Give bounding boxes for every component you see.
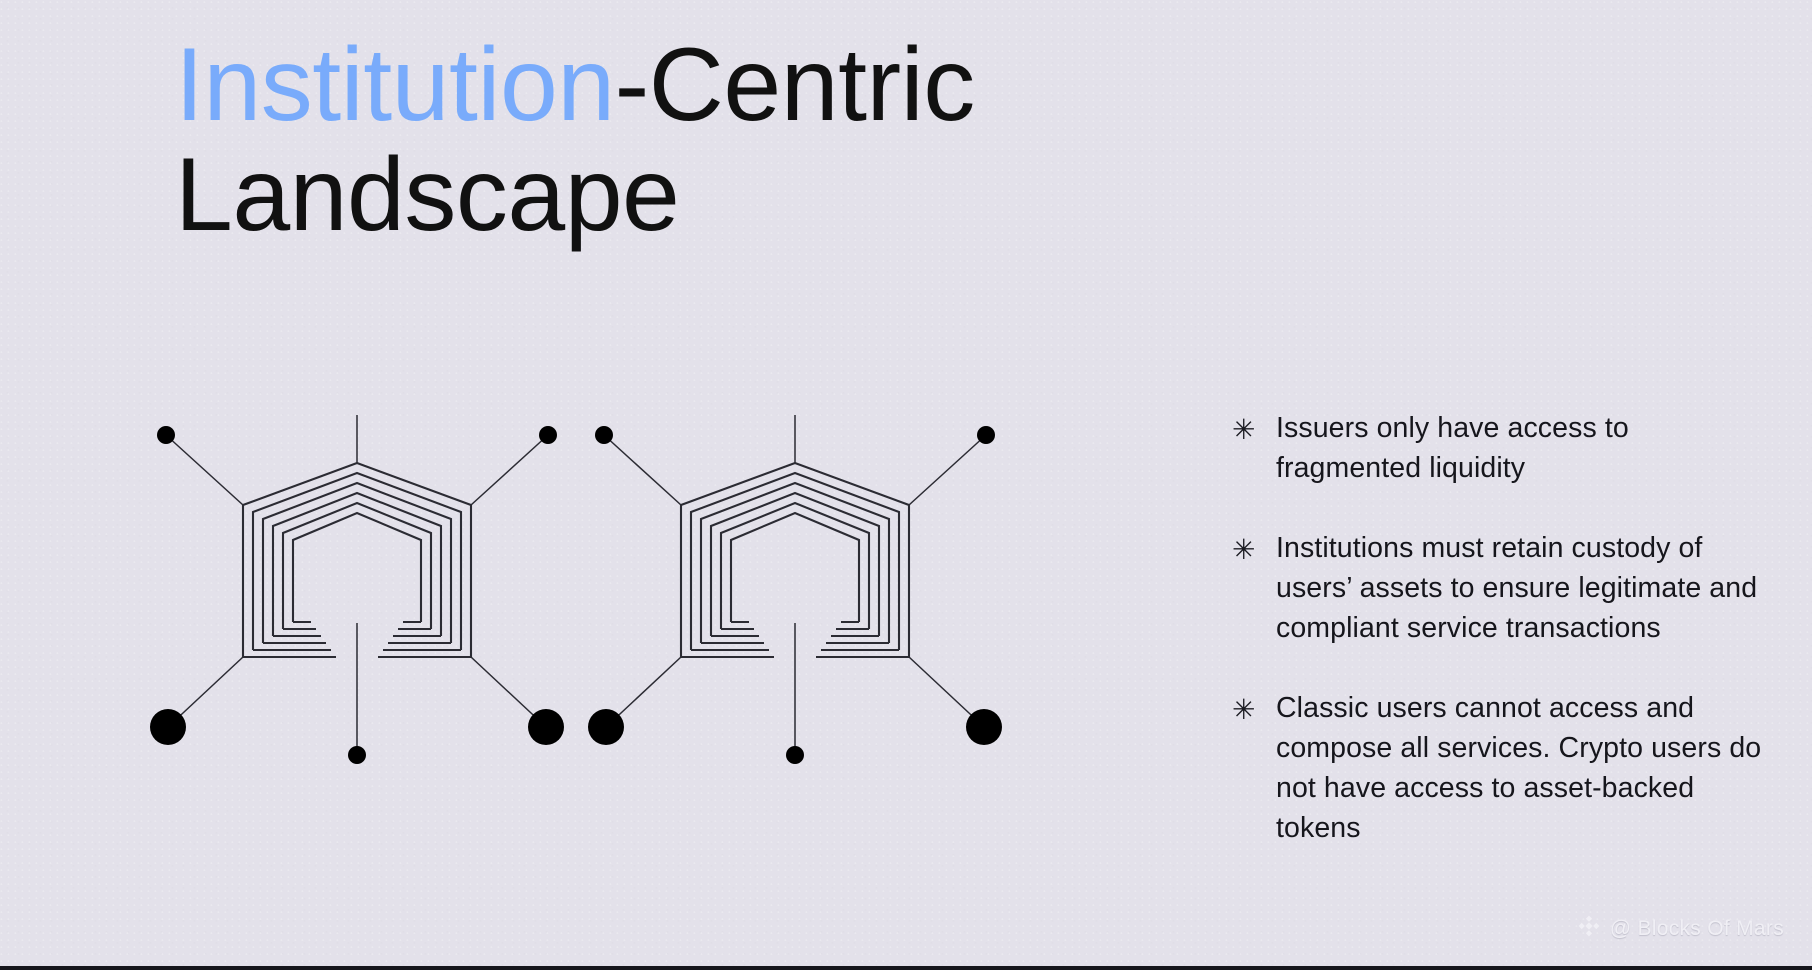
ring-6 [731,513,859,622]
bullet-text: Classic users cannot access and compose … [1276,688,1772,848]
spoke-upper-left [604,435,681,505]
left-cluster [150,415,564,764]
node-upper-left [595,426,613,444]
watermark-handle: @ Blocks Of Mars [1610,917,1784,941]
node-upper-right [977,426,995,444]
network-diagram-svg [140,415,1140,895]
title-line-2: Landscape [175,140,1175,250]
list-item: ✳ Classic users cannot access and compos… [1232,688,1772,848]
node-bottom [786,746,804,764]
node-upper-right [539,426,557,444]
spoke-upper-right [909,435,986,505]
bullet-list: ✳ Issuers only have access to fragmented… [1232,408,1772,848]
ring-6 [293,513,421,622]
bullet-text: Institutions must retain custody of user… [1276,528,1772,648]
node-lower-left [150,709,186,745]
node-lower-left [588,709,624,745]
bullet-text: Issuers only have access to fragmented l… [1276,408,1772,488]
list-item: ✳ Issuers only have access to fragmented… [1232,408,1772,488]
title-line-1-rest: -Centric [615,27,975,143]
bottom-divider [0,966,1812,970]
slide-canvas: Institution-Centric Landscape [0,0,1812,970]
ring-3 [263,483,451,643]
asterisk-icon: ✳ [1232,688,1276,730]
list-item: ✳ Institutions must retain custody of us… [1232,528,1772,648]
node-lower-right [528,709,564,745]
ring-4 [273,493,441,636]
institution-network-diagram [140,415,1140,895]
right-cluster [588,415,1002,764]
spoke-upper-right [471,435,548,505]
ring-5 [721,503,869,629]
ring-4 [711,493,879,636]
ring-3 [701,483,889,643]
node-lower-right [966,709,1002,745]
right-cluster-spokes [604,415,986,755]
left-cluster-spokes [166,415,548,755]
spoke-upper-left [166,435,243,505]
asterisk-icon: ✳ [1232,528,1276,570]
watermark: @ Blocks Of Mars [1577,914,1784,944]
page-title: Institution-Centric Landscape [175,30,1175,250]
asterisk-icon: ✳ [1232,408,1276,450]
title-line-1: Institution-Centric [175,30,1175,140]
node-upper-left [157,426,175,444]
title-accent-word: Institution [175,27,615,143]
ring-5 [283,503,431,629]
diamond-logo-icon [1577,914,1601,944]
node-bottom [348,746,366,764]
